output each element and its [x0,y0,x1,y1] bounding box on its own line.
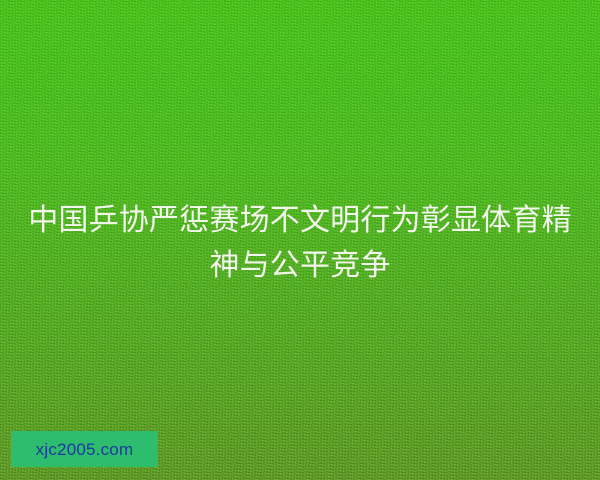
image-canvas: 中国乒协严惩赛场不文明行为彰显体育精神与公平竞争 xjc2005.com [0,0,600,480]
watermark-badge: xjc2005.com [11,431,158,467]
watermark-text: xjc2005.com [36,441,134,458]
headline-title: 中国乒协严惩赛场不文明行为彰显体育精神与公平竞争 [0,198,600,288]
